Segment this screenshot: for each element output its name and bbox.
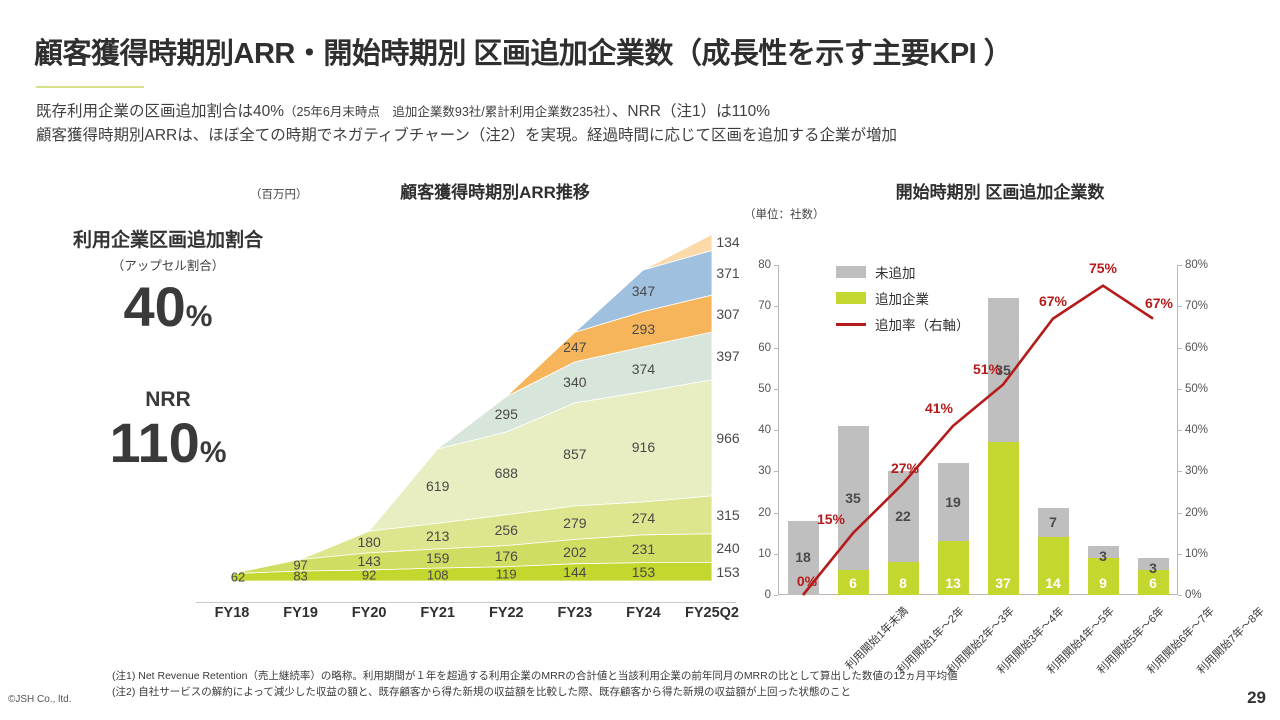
area-chart-value-label: 397 bbox=[716, 348, 739, 364]
area-chart-value-label: 180 bbox=[357, 534, 380, 550]
kpi-nrr-value: 110 bbox=[109, 411, 199, 474]
area-chart-value-label: 279 bbox=[563, 515, 586, 531]
bar-chart: 未追加追加企業追加率（右軸） 010203040506070800%10%20%… bbox=[740, 225, 1240, 645]
area-chart-x-labels: FY18FY19FY20FY21FY22FY23FY24FY25Q2 bbox=[196, 605, 736, 625]
area-chart-value-label: 966 bbox=[716, 430, 739, 446]
bar-chart-y2-tick: 60% bbox=[1178, 342, 1208, 354]
bar-chart-y2-tickmark bbox=[1178, 389, 1182, 390]
area-chart-value-label: 108 bbox=[427, 567, 449, 582]
footnote-1: (注1) Net Revenue Retention（売上継続率）の略称。利用期… bbox=[112, 668, 958, 684]
bar-chart-y2-tick: 70% bbox=[1178, 300, 1208, 312]
area-chart-x-label: FY20 bbox=[352, 605, 387, 621]
bar-chart-y2-tick: 30% bbox=[1178, 465, 1208, 477]
area-chart-x-label: FY25Q2 bbox=[685, 605, 739, 621]
area-chart-value-label: 374 bbox=[632, 361, 655, 377]
bar-chart-y2-tick: 50% bbox=[1178, 383, 1208, 395]
area-chart-value-label: 97 bbox=[293, 558, 307, 573]
slide-root: 顧客獲得時期別ARR・開始時期別 区画追加企業数（成長性を示す主要KPI ） 既… bbox=[0, 0, 1280, 720]
area-chart-x-label: FY18 bbox=[215, 605, 250, 621]
subtitle: 既存利用企業の区画追加割合は40%（25年6月末時点 追加企業数93社/累計利用… bbox=[36, 100, 1236, 147]
area-chart-value-label: 153 bbox=[716, 564, 739, 580]
area-chart-value-label: 240 bbox=[716, 540, 739, 556]
area-chart-x-label: FY23 bbox=[558, 605, 593, 621]
area-chart-value-label: 293 bbox=[632, 321, 655, 337]
bar-chart-y2-tick: 80% bbox=[1178, 259, 1208, 271]
bar-chart-rate-label: 0% bbox=[797, 573, 817, 589]
area-chart-value-label: 213 bbox=[426, 528, 449, 544]
area-chart-value-label: 619 bbox=[426, 478, 449, 494]
area-chart-value-label: 153 bbox=[632, 564, 655, 580]
area-chart-value-label: 688 bbox=[495, 465, 518, 481]
bar-chart-y2-tickmark bbox=[1178, 595, 1182, 596]
bar-chart-plot: 010203040506070800%10%20%30%40%50%60%70%… bbox=[778, 265, 1178, 595]
bar-chart-rate-label: 27% bbox=[891, 460, 919, 476]
bar-chart-rate-label: 15% bbox=[817, 511, 845, 527]
area-chart-x-label: FY22 bbox=[489, 605, 524, 621]
kpi-upsell-value: 40 bbox=[124, 275, 186, 338]
bar-chart-y-tickmark bbox=[774, 595, 778, 596]
area-chart-value-label: 340 bbox=[563, 374, 586, 390]
area-chart-x-label: FY24 bbox=[626, 605, 661, 621]
area-chart-value-label: 295 bbox=[495, 406, 518, 422]
bar-chart-y2-tickmark bbox=[1178, 348, 1182, 349]
area-chart-value-label: 857 bbox=[563, 446, 586, 462]
bar-chart-title: 開始時期別 区画追加企業数 bbox=[780, 178, 1220, 203]
area-chart-value-label: 371 bbox=[716, 265, 739, 281]
area-chart-value-label: 916 bbox=[632, 439, 655, 455]
area-chart-value-label: 143 bbox=[357, 553, 380, 569]
footnote-2: (注2) 自社サービスの解約によって減少した収益の額と、既存顧客から得た新規の収… bbox=[112, 684, 958, 700]
bar-chart-rate-label: 67% bbox=[1039, 293, 1067, 309]
area-chart-value-label: 202 bbox=[563, 544, 586, 560]
area-chart-value-label: 247 bbox=[563, 339, 586, 355]
area-chart-value-label: 134 bbox=[716, 234, 739, 250]
footnotes: (注1) Net Revenue Retention（売上継続率）の略称。利用期… bbox=[112, 668, 958, 700]
subtitle-part-a: 既存利用企業の区画追加割合は40% bbox=[36, 103, 284, 120]
area-chart-value-label: 307 bbox=[716, 306, 739, 322]
bar-chart-y2-tickmark bbox=[1178, 471, 1182, 472]
subtitle-part-c: 、NRR（注1）は110% bbox=[612, 103, 770, 120]
subtitle-part-b: （25年6月末時点 追加企業数93社/累計利用企業数235社） bbox=[284, 105, 612, 119]
area-chart-x-label: FY19 bbox=[283, 605, 318, 621]
area-chart-value-label: 159 bbox=[426, 550, 449, 566]
bar-chart-y2-tickmark bbox=[1178, 513, 1182, 514]
bar-chart-line-overlay bbox=[778, 265, 1178, 595]
area-chart-value-label: 119 bbox=[496, 566, 517, 581]
bar-chart-y2-tick: 10% bbox=[1178, 548, 1208, 560]
bar-chart-y2-tickmark bbox=[1178, 306, 1182, 307]
bar-chart-y2-tickmark bbox=[1178, 554, 1182, 555]
copyright: ©JSH Co., ltd. bbox=[8, 694, 72, 705]
area-chart-value-label: 274 bbox=[632, 510, 655, 526]
area-chart-value-label: 231 bbox=[632, 541, 655, 557]
bar-chart-unit-label: （単位：社数） bbox=[744, 206, 825, 222]
area-chart-x-label: FY21 bbox=[420, 605, 455, 621]
area-chart-value-label: 347 bbox=[632, 283, 655, 299]
area-chart-value-label: 62 bbox=[231, 570, 245, 585]
title-underline bbox=[36, 86, 144, 88]
area-chart-value-label: 92 bbox=[362, 568, 376, 583]
bar-chart-y2-tickmark bbox=[1178, 265, 1182, 266]
subtitle-line2: 顧客獲得時期別ARRは、ほぼ全ての時期でネガティブチャーン（注2）を実現。経過時… bbox=[36, 124, 1236, 147]
area-chart-x-axis bbox=[196, 602, 736, 603]
bar-chart-rate-label: 75% bbox=[1089, 260, 1117, 276]
area-chart-unit-label: （百万円） bbox=[250, 186, 308, 202]
bar-chart-y2-tick: 20% bbox=[1178, 507, 1208, 519]
area-chart-value-label: 256 bbox=[495, 522, 518, 538]
area-chart: FY18FY19FY20FY21FY22FY23FY24FY25Q2 62839… bbox=[196, 205, 736, 625]
area-chart-title: 顧客獲得時期別ARR推移 bbox=[330, 178, 660, 203]
area-chart-value-label: 144 bbox=[563, 564, 586, 580]
area-chart-value-label: 315 bbox=[716, 507, 739, 523]
bar-chart-rate-label: 51% bbox=[973, 361, 1001, 377]
area-chart-value-label: 176 bbox=[495, 548, 518, 564]
bar-chart-rate-label: 67% bbox=[1145, 295, 1173, 311]
page-number: 29 bbox=[1247, 688, 1266, 708]
bar-chart-y2-tick: 40% bbox=[1178, 424, 1208, 436]
bar-chart-y2-tickmark bbox=[1178, 430, 1182, 431]
bar-chart-rate-label: 41% bbox=[925, 400, 953, 416]
page-title: 顧客獲得時期別ARR・開始時期別 区画追加企業数（成長性を示す主要KPI ） bbox=[34, 30, 1244, 72]
